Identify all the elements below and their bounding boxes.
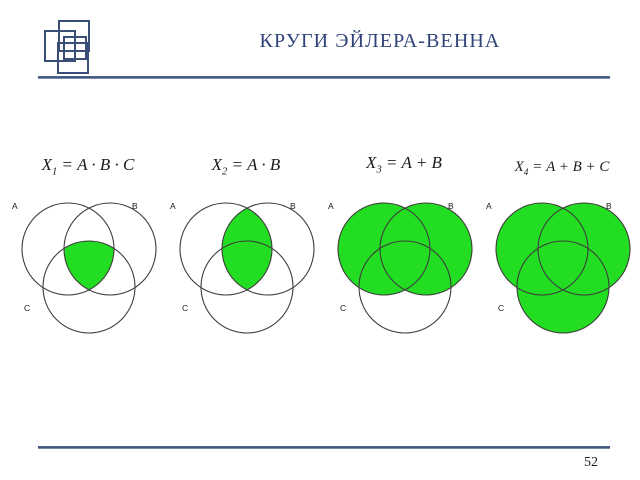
slide-number: 52 xyxy=(584,455,598,471)
label-c: C xyxy=(498,303,504,313)
shaded-region-a-union-b-union-c xyxy=(496,203,630,333)
venn-svg-x3: A B C xyxy=(324,189,484,349)
venn-svg-x1: A B C xyxy=(8,189,168,349)
formula-subscript: 3 xyxy=(376,164,381,175)
label-a: A xyxy=(170,201,176,211)
venn-svg-x2: A B C xyxy=(166,189,326,349)
formula-equals: = xyxy=(386,153,398,172)
overlapping-squares-logo xyxy=(42,18,102,76)
formula-x1: X1 = A · B · C xyxy=(8,155,168,177)
formula-expression: A + B xyxy=(402,153,442,172)
label-c: C xyxy=(24,303,30,313)
slide-header: КРУГИ ЭЙЛЕРА-ВЕННА xyxy=(0,0,640,92)
footer-divider xyxy=(38,446,610,449)
formula-equals: = xyxy=(232,155,244,174)
formula-variable: X xyxy=(42,155,52,174)
label-b: B xyxy=(448,201,454,211)
shaded-region-a-union-b xyxy=(338,203,472,295)
venn-diagram-x1: X1 = A · B · C A B C xyxy=(8,155,168,350)
formula-subscript: 4 xyxy=(524,168,529,178)
label-b: B xyxy=(606,201,612,211)
formula-variable: X xyxy=(366,153,376,172)
formula-expression: A · B · C xyxy=(77,155,134,174)
label-c: C xyxy=(340,303,346,313)
venn-diagram-x4: X4 = A + B + C A B C xyxy=(482,155,640,350)
label-b: B xyxy=(290,201,296,211)
label-c: C xyxy=(182,303,188,313)
label-a: A xyxy=(328,201,334,211)
formula-x2: X2 = A · B xyxy=(166,155,326,177)
label-a: A xyxy=(12,201,18,211)
formula-x3: X3 = A + B xyxy=(324,153,484,175)
formula-equals: = xyxy=(62,155,74,174)
header-divider xyxy=(38,76,610,79)
formula-expression: A + B + C xyxy=(546,159,609,175)
formula-expression: A · B xyxy=(247,155,280,174)
formula-equals: = xyxy=(532,159,542,175)
page-title: КРУГИ ЭЙЛЕРА-ВЕННА xyxy=(150,30,610,53)
label-b: B xyxy=(132,201,138,211)
venn-diagram-x3: X3 = A + B A B C xyxy=(324,155,484,350)
formula-variable: X xyxy=(515,159,524,175)
formula-subscript: 1 xyxy=(52,166,57,177)
label-a: A xyxy=(486,201,492,211)
formula-subscript: 2 xyxy=(222,166,227,177)
formula-variable: X xyxy=(212,155,222,174)
venn-svg-x4: A B C xyxy=(482,189,640,349)
venn-diagram-x2: X2 = A · B A B C xyxy=(166,155,326,350)
formula-x4: X4 = A + B + C xyxy=(482,159,640,178)
